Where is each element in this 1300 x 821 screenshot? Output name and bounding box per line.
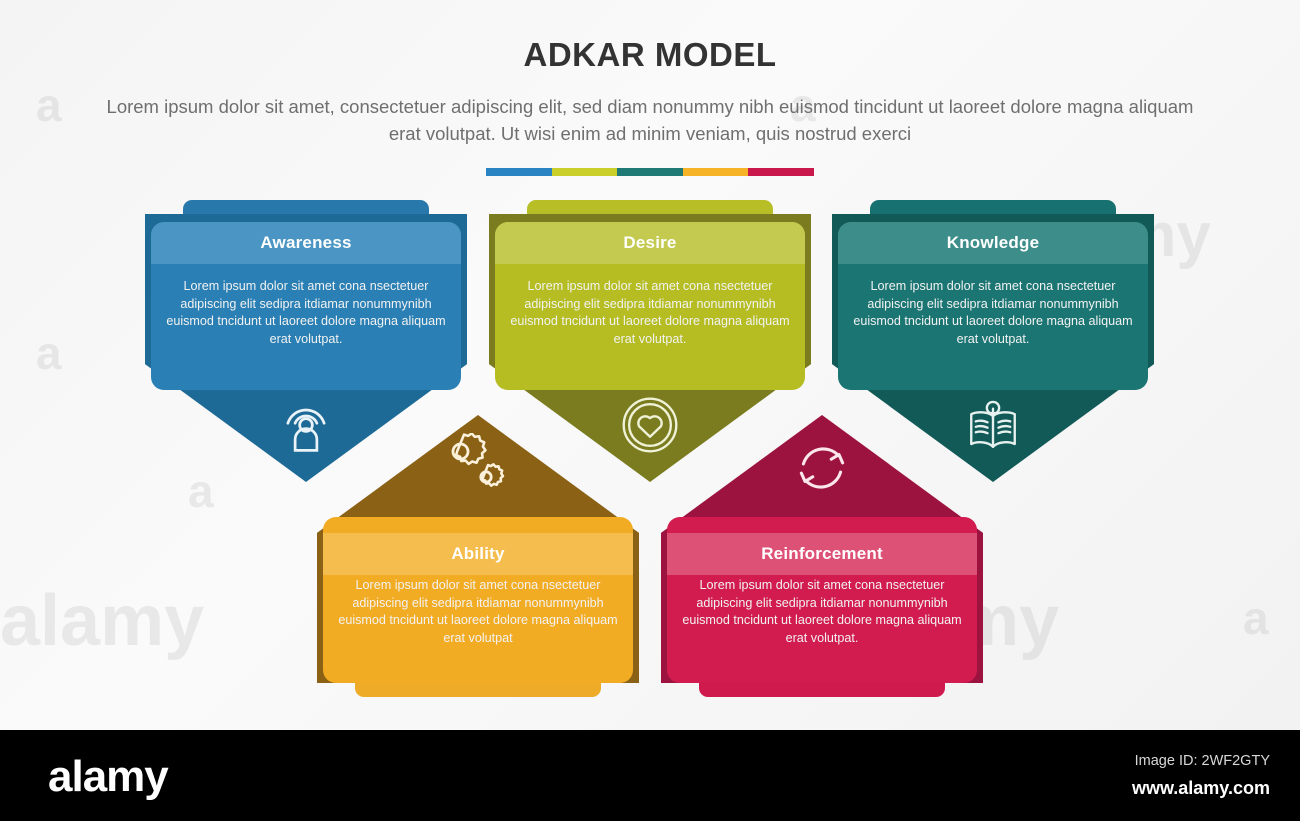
refresh-cycle-icon [789, 435, 855, 501]
divider-segment-3 [617, 168, 683, 176]
page-title: ADKAR MODEL [0, 36, 1300, 74]
card-title: Ability [451, 544, 504, 564]
gears-icon [442, 433, 514, 501]
watermark-brand: alamy [0, 585, 204, 657]
card-title-band-overlay: Knowledge [838, 222, 1148, 264]
page-subtitle: Lorem ipsum dolor sit amet, consectetuer… [100, 93, 1200, 147]
color-divider [486, 168, 814, 176]
watermark-letter: a [1243, 595, 1269, 641]
infographic-canvas: a a a a a a alamy alamy alamy alamy ADKA… [0, 0, 1300, 730]
card-title-band-overlay: Desire [495, 222, 805, 264]
card-description: Lorem ipsum dolor sit amet cona nsectetu… [505, 278, 795, 348]
watermark-letter: a [36, 82, 62, 128]
card-title: Knowledge [947, 233, 1039, 253]
card-description: Lorem ipsum dolor sit amet cona nsectetu… [848, 278, 1138, 348]
card-title-band-overlay: Reinforcement [667, 533, 977, 575]
alamy-url[interactable]: www.alamy.com [1132, 778, 1270, 799]
watermark-letter: a [36, 330, 62, 376]
divider-segment-2 [552, 168, 618, 176]
card-title-band-overlay: Ability [323, 533, 633, 575]
card-description: Lorem ipsum dolor sit amet cona nsectetu… [333, 577, 623, 647]
alamy-logo: alamy [48, 752, 168, 802]
divider-segment-4 [683, 168, 749, 176]
card-title: Awareness [260, 233, 351, 253]
card-reinforcement[interactable]: Reinforcement Lorem ipsum dolor sit amet… [661, 415, 983, 697]
card-description: Lorem ipsum dolor sit amet cona nsectetu… [677, 577, 967, 647]
image-id-label: Image ID: 2WF2GTY [1135, 753, 1270, 769]
card-title: Reinforcement [761, 544, 883, 564]
alamy-footer-bar: alamy Image ID: 2WF2GTY www.alamy.com [0, 730, 1300, 821]
card-ability[interactable]: Ability Lorem ipsum dolor sit amet cona … [317, 415, 639, 697]
card-title: Desire [623, 233, 676, 253]
divider-segment-1 [486, 168, 552, 176]
divider-segment-5 [748, 168, 814, 176]
card-description: Lorem ipsum dolor sit amet cona nsectetu… [161, 278, 451, 348]
card-title-band-overlay: Awareness [151, 222, 461, 264]
